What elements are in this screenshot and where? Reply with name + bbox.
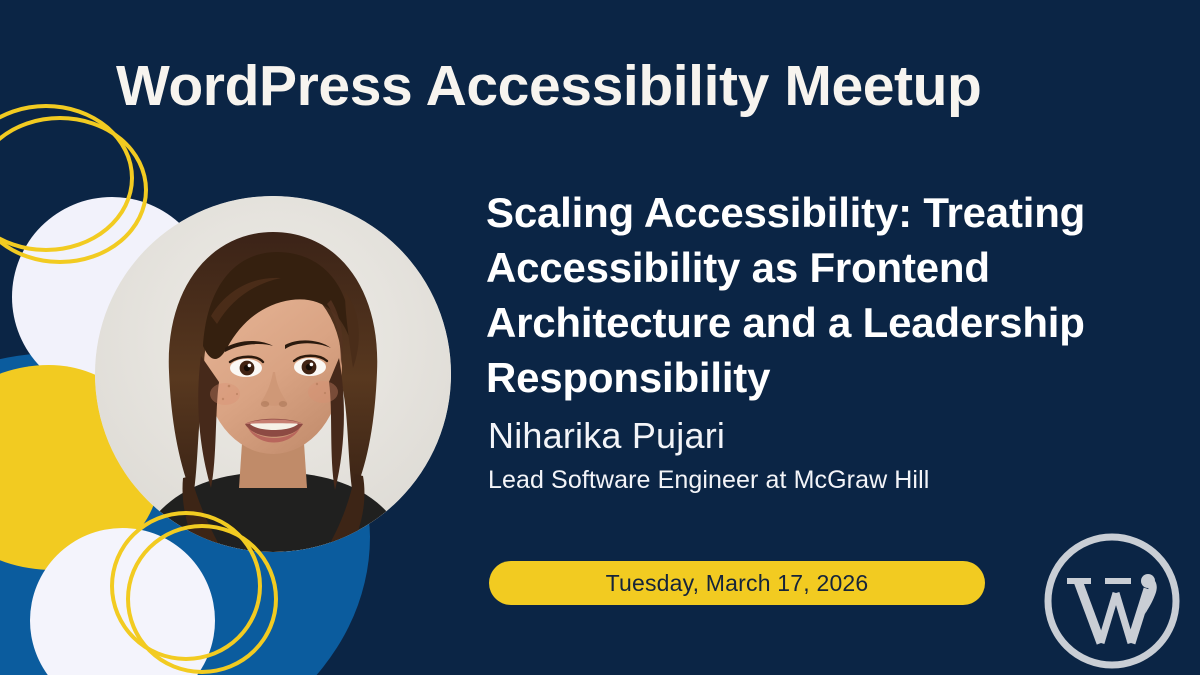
event-title: WordPress Accessibility Meetup	[116, 58, 1116, 115]
session-title: Scaling Accessibility: Treating Accessib…	[486, 185, 1166, 405]
date-badge: Tuesday, March 17, 2026	[489, 561, 985, 605]
yellow-ring-bottom-left-inner	[126, 524, 278, 674]
wordpress-logo-icon	[1042, 531, 1182, 671]
speaker-name: Niharika Pujari	[488, 415, 725, 457]
meetup-announcement-slide: WordPress Accessibility Meetup Scaling A…	[0, 0, 1200, 675]
date-badge-label: Tuesday, March 17, 2026	[606, 570, 869, 597]
speaker-portrait-photo	[95, 196, 451, 552]
speaker-role: Lead Software Engineer at McGraw Hill	[488, 466, 929, 495]
